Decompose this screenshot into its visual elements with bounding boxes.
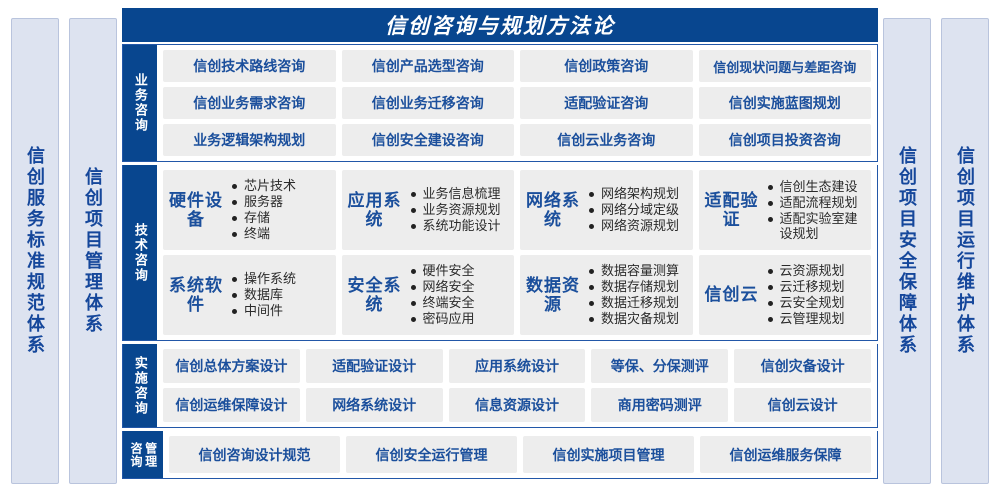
tech-card-item: 数据库 (231, 287, 330, 303)
section-label-technical: 技术咨询 (123, 165, 157, 340)
tech-card-adaptation[interactable]: 适配验证 信创生态建设 适配流程规划 适配实验室建设规划 (699, 170, 872, 250)
chip-item[interactable]: 适配验证设计 (306, 349, 443, 383)
tech-card-item: 云资源规划 (767, 263, 866, 279)
chip-row: 信创技术路线咨询 信创产品选型咨询 信创政策咨询 信创现状问题与差距咨询 (163, 50, 871, 82)
chip-item[interactable]: 信创业务需求咨询 (163, 87, 336, 119)
pillar-label: 信创项目管理体系 (84, 167, 102, 335)
tech-card-item: 业务资源规划 (410, 202, 509, 218)
tech-card-network[interactable]: 网络系统 网络架构规划 网络分域定级 网络资源规划 (520, 170, 693, 250)
chip-item[interactable]: 信创现状问题与差距咨询 (699, 50, 872, 82)
pillar-project-management-system: 信创项目管理体系 (69, 18, 117, 484)
page-title: 信创咨询与规划方法论 (122, 8, 878, 42)
tech-card-title: 网络系统 (524, 191, 582, 229)
chip-item[interactable]: 等保、分保测评 (591, 349, 728, 383)
tech-card-item: 数据容量测算 (588, 263, 687, 279)
section-label-text-col1: 咨询 (129, 442, 142, 468)
tech-card-item: 信创生态建设 (767, 179, 866, 195)
tech-card-item: 云安全规划 (767, 295, 866, 311)
center-column: 信创咨询与规划方法论 业务咨询 信创技术路线咨询 信创产品选型咨询 信创政策咨询… (122, 8, 878, 490)
section-implementation-consulting: 实施咨询 信创总体方案设计 适配验证设计 应用系统设计 等保、分保测评 信创灾备… (122, 344, 878, 428)
tech-card-item: 云管理规划 (767, 311, 866, 327)
tech-card-row: 系统软件 操作系统 数据库 中间件 安全系统 硬件安全 网络安全 (163, 255, 871, 335)
chip-item[interactable]: 信创运维保障设计 (163, 388, 300, 422)
pillar-project-operation-system: 信创项目运行维护体系 (941, 18, 989, 484)
chip-item[interactable]: 信创安全建设咨询 (342, 124, 515, 156)
section-business-consulting: 业务咨询 信创技术路线咨询 信创产品选型咨询 信创政策咨询 信创现状问题与差距咨… (122, 44, 878, 162)
tech-card-list: 信创生态建设 适配流程规划 适配实验室建设规划 (765, 179, 866, 241)
tech-card-item: 适配实验室建设规划 (767, 211, 866, 242)
section-label-text: 实施咨询 (133, 356, 147, 416)
tech-card-item: 网络架构规划 (588, 186, 687, 202)
chip-item[interactable]: 业务逻辑架构规划 (163, 124, 336, 156)
chip-item[interactable]: 网络系统设计 (306, 388, 443, 422)
chip-row: 信创总体方案设计 适配验证设计 应用系统设计 等保、分保测评 信创灾备设计 (163, 349, 871, 383)
tech-card-item: 终端 (231, 226, 330, 242)
tech-card-title: 系统软件 (167, 276, 225, 314)
section-body-business: 信创技术路线咨询 信创产品选型咨询 信创政策咨询 信创现状问题与差距咨询 信创业… (157, 45, 877, 161)
chip-item[interactable]: 信创总体方案设计 (163, 349, 300, 383)
tech-card-cloud[interactable]: 信创云 云资源规划 云迁移规划 云安全规划 云管理规划 (699, 255, 872, 335)
tech-card-list: 云资源规划 云迁移规划 云安全规划 云管理规划 (765, 263, 866, 326)
tech-card-data-resource[interactable]: 数据资源 数据容量测算 数据存储规划 数据迁移规划 数据灾备规划 (520, 255, 693, 335)
chip-item[interactable]: 信创咨询设计规范 (169, 436, 340, 473)
tech-card-row: 硬件设备 芯片技术 服务器 存储 终端 应用系统 业务信息梳理 (163, 170, 871, 250)
tech-card-title: 硬件设备 (167, 191, 225, 229)
pillar-label: 信创服务标准规范体系 (26, 146, 44, 356)
tech-card-item: 数据存储规划 (588, 279, 687, 295)
section-label-management: 咨询 管理 (123, 431, 163, 478)
section-technical-consulting: 技术咨询 硬件设备 芯片技术 服务器 存储 终端 (122, 165, 878, 341)
chip-item[interactable]: 信创实施项目管理 (523, 436, 694, 473)
tech-card-item: 操作系统 (231, 271, 330, 287)
chip-item[interactable]: 信创运维服务保障 (700, 436, 871, 473)
chip-row: 信创业务需求咨询 信创业务迁移咨询 适配验证咨询 信创实施蓝图规划 (163, 87, 871, 119)
tech-card-application[interactable]: 应用系统 业务信息梳理 业务资源规划 系统功能设计 (342, 170, 515, 250)
chip-item[interactable]: 信创实施蓝图规划 (699, 87, 872, 119)
tech-card-item: 存储 (231, 210, 330, 226)
tech-card-title: 安全系统 (346, 276, 404, 314)
tech-card-list: 硬件安全 网络安全 终端安全 密码应用 (408, 263, 509, 326)
tech-card-item: 终端安全 (410, 295, 509, 311)
chip-item[interactable]: 信创安全运行管理 (346, 436, 517, 473)
tech-card-item: 数据灾备规划 (588, 311, 687, 327)
tech-card-hardware[interactable]: 硬件设备 芯片技术 服务器 存储 终端 (163, 170, 336, 250)
chip-item[interactable]: 应用系统设计 (449, 349, 586, 383)
chip-item[interactable]: 信创政策咨询 (520, 50, 693, 82)
chip-item[interactable]: 信创技术路线咨询 (163, 50, 336, 82)
chip-row: 业务逻辑架构规划 信创安全建设咨询 信创云业务咨询 信创项目投资咨询 (163, 124, 871, 156)
chip-row: 信创运维保障设计 网络系统设计 信息资源设计 商用密码测评 信创云设计 (163, 388, 871, 422)
tech-card-item: 业务信息梳理 (410, 186, 509, 202)
chip-item[interactable]: 商用密码测评 (591, 388, 728, 422)
pillar-label: 信创项目安全保障体系 (898, 146, 916, 356)
tech-card-list: 网络架构规划 网络分域定级 网络资源规划 (586, 186, 687, 234)
tech-card-item: 网络安全 (410, 279, 509, 295)
tech-card-security[interactable]: 安全系统 硬件安全 网络安全 终端安全 密码应用 (342, 255, 515, 335)
chip-item[interactable]: 信创产品选型咨询 (342, 50, 515, 82)
section-consulting-management: 咨询 管理 信创咨询设计规范 信创安全运行管理 信创实施项目管理 信创运维服务保… (122, 431, 878, 479)
section-body-management: 信创咨询设计规范 信创安全运行管理 信创实施项目管理 信创运维服务保障 (163, 431, 877, 478)
section-body-implementation: 信创总体方案设计 适配验证设计 应用系统设计 等保、分保测评 信创灾备设计 信创… (157, 344, 877, 427)
pillar-project-security-system: 信创项目安全保障体系 (883, 18, 931, 484)
chip-item[interactable]: 信创项目投资咨询 (699, 124, 872, 156)
tech-card-item: 网络资源规划 (588, 218, 687, 234)
tech-card-item: 密码应用 (410, 311, 509, 327)
chip-item[interactable]: 信息资源设计 (449, 388, 586, 422)
section-body-technical: 硬件设备 芯片技术 服务器 存储 终端 应用系统 业务信息梳理 (157, 165, 877, 340)
chip-row: 信创咨询设计规范 信创安全运行管理 信创实施项目管理 信创运维服务保障 (169, 436, 871, 473)
chip-item[interactable]: 适配验证咨询 (520, 87, 693, 119)
tech-card-item: 中间件 (231, 303, 330, 319)
tech-card-list: 数据容量测算 数据存储规划 数据迁移规划 数据灾备规划 (586, 263, 687, 326)
section-label-text: 业务咨询 (133, 73, 147, 133)
tech-card-item: 芯片技术 (231, 178, 330, 194)
pillar-service-standard-system: 信创服务标准规范体系 (11, 18, 59, 484)
tech-card-title: 信创云 (703, 285, 761, 304)
section-label-business: 业务咨询 (123, 45, 157, 161)
chip-item[interactable]: 信创业务迁移咨询 (342, 87, 515, 119)
tech-card-item: 数据迁移规划 (588, 295, 687, 311)
tech-card-item: 服务器 (231, 194, 330, 210)
section-label-text: 技术咨询 (133, 223, 147, 283)
tech-card-item: 网络分域定级 (588, 202, 687, 218)
section-label-implementation: 实施咨询 (123, 344, 157, 427)
methodology-diagram: 信创服务标准规范体系 信创项目管理体系 信创咨询与规划方法论 业务咨询 信创技术… (0, 0, 1000, 496)
tech-card-item: 云迁移规划 (767, 279, 866, 295)
chip-item[interactable]: 信创云业务咨询 (520, 124, 693, 156)
tech-card-system-software[interactable]: 系统软件 操作系统 数据库 中间件 (163, 255, 336, 335)
tech-card-list: 芯片技术 服务器 存储 终端 (229, 178, 330, 241)
chip-item[interactable]: 信创云设计 (734, 388, 871, 422)
tech-card-title: 数据资源 (524, 276, 582, 314)
tech-card-item: 系统功能设计 (410, 218, 509, 234)
tech-card-title: 适配验证 (703, 191, 761, 229)
section-label-text-col2: 管理 (144, 442, 157, 468)
tech-card-list: 业务信息梳理 业务资源规划 系统功能设计 (408, 186, 509, 234)
tech-card-item: 硬件安全 (410, 263, 509, 279)
pillar-label: 信创项目运行维护体系 (956, 146, 974, 356)
tech-card-title: 应用系统 (346, 191, 404, 229)
tech-card-list: 操作系统 数据库 中间件 (229, 271, 330, 319)
tech-card-item: 适配流程规划 (767, 195, 866, 211)
chip-item[interactable]: 信创灾备设计 (734, 349, 871, 383)
